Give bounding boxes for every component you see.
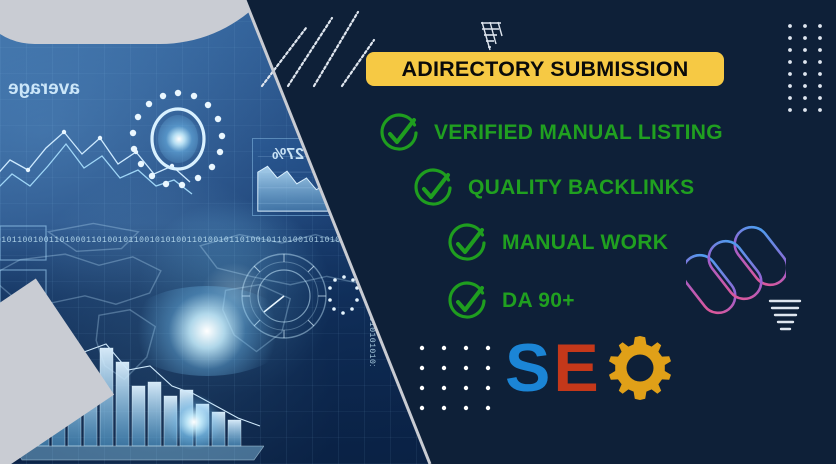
photo-oval-glow xyxy=(370,282,396,308)
feature-row-manual-work: MANUAL WORK xyxy=(446,222,668,264)
title-banner: ADIRECTORY SUBMISSION xyxy=(366,52,724,86)
diagonal-dotted-lines-icon xyxy=(250,0,380,90)
feature-label: DA 90+ xyxy=(502,289,575,313)
check-circle-icon xyxy=(378,112,420,154)
feature-row-da-90-plus: DA 90+ xyxy=(446,280,575,322)
feature-row-quality-backlinks: QUALITY BACKLINKS xyxy=(412,167,694,209)
photo-ring-glow xyxy=(156,116,202,162)
photo-dotted-ovals xyxy=(328,272,432,318)
chain-link-icon xyxy=(686,218,786,322)
check-circle-icon xyxy=(446,222,488,264)
photo-percent-label: 27% xyxy=(272,146,304,164)
gear-icon xyxy=(606,334,674,402)
dot-grid-top-right xyxy=(786,22,826,112)
seo-letter-s: S xyxy=(505,337,549,400)
check-circle-icon xyxy=(446,280,488,322)
photo-binary-side: 01010101010101 xyxy=(367,306,376,366)
photo-lower-flare xyxy=(166,394,222,450)
banner-title: ADIRECTORY SUBMISSION xyxy=(402,57,689,82)
photo-center-flare xyxy=(122,286,292,376)
check-circle-icon xyxy=(412,167,454,209)
creative-banner: average 27% xyxy=(0,0,836,464)
feature-label: VERIFIED MANUAL LISTING xyxy=(434,121,723,145)
dot-grid-bottom-left xyxy=(418,344,492,414)
seo-logo: S E xyxy=(505,334,674,402)
feature-label: QUALITY BACKLINKS xyxy=(468,176,694,200)
feature-row-verified-manual-listing: VERIFIED MANUAL LISTING xyxy=(378,112,723,154)
seo-letter-e: E xyxy=(553,337,597,400)
feature-label: MANUAL WORK xyxy=(502,231,668,255)
hatch-triangle-top-icon xyxy=(478,20,512,52)
photo-average-label: average xyxy=(8,78,80,100)
